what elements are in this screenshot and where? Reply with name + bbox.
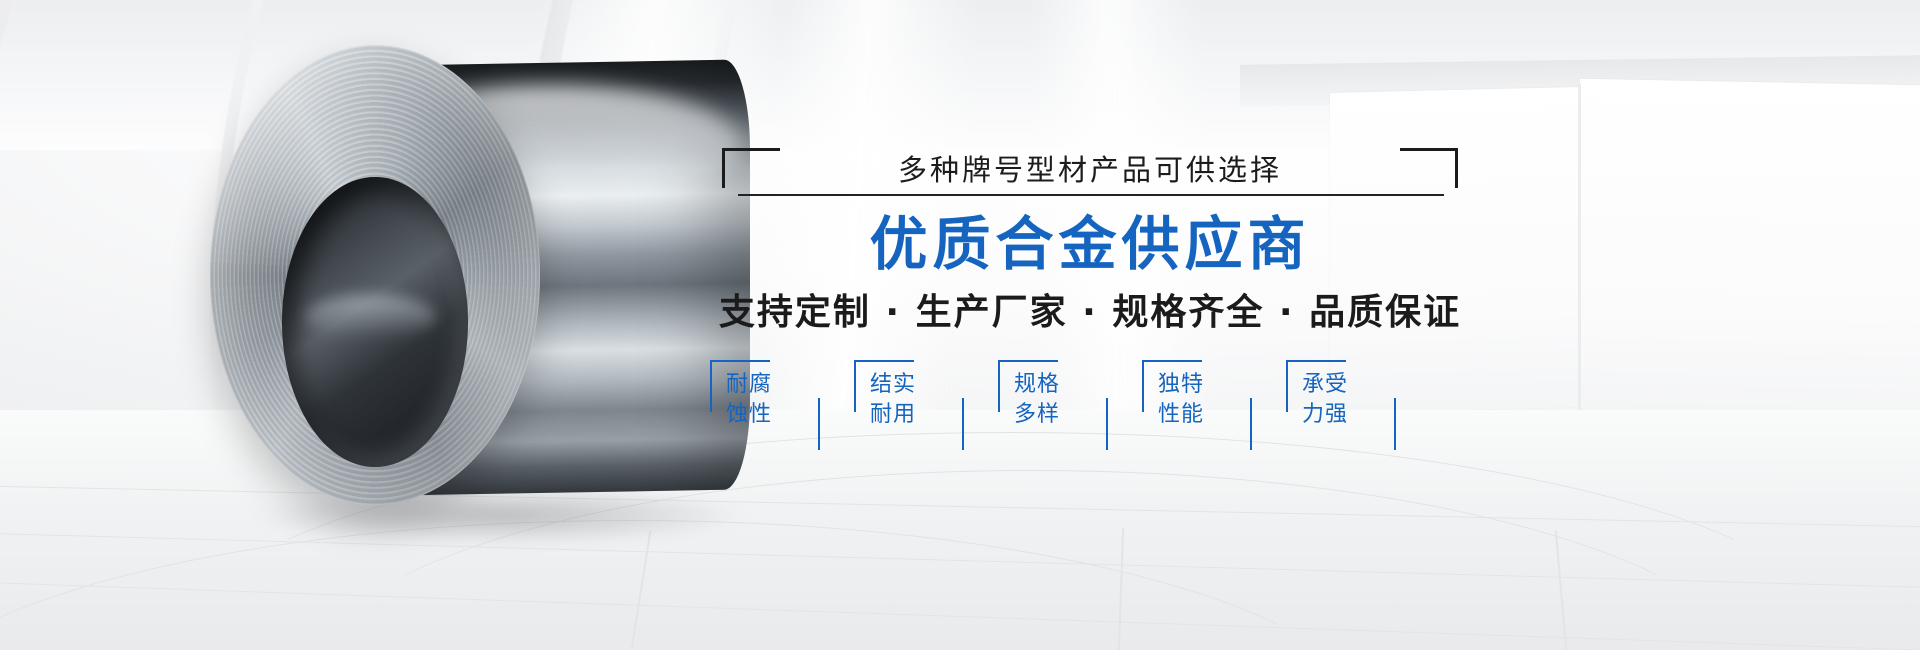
- badge-label-line2: 力强: [1302, 400, 1376, 430]
- badge-bracket-top: [1142, 360, 1202, 362]
- badge-label-line2: 性能: [1158, 400, 1232, 430]
- badge-label-line1: 耐腐: [726, 370, 800, 400]
- badge-label: 独特 性能: [1158, 370, 1232, 430]
- badge-label-line2: 耐用: [870, 400, 944, 430]
- badge-bracket-top: [854, 360, 914, 362]
- product-steel-coil-image: [210, 45, 670, 515]
- badge-divider-line: [1250, 398, 1252, 450]
- feature-badge-5: 承受 力强: [1286, 360, 1390, 452]
- feature-badge-2: 结实 耐用: [854, 360, 958, 452]
- banner-copy-block: 多种牌号型材产品可供选择 优质合金供应商 支持定制 · 生产厂家 · 规格齐全 …: [700, 128, 1520, 508]
- sub-headline: 支持定制 · 生产厂家 · 规格齐全 · 品质保证: [656, 290, 1524, 336]
- feature-badge-1: 耐腐 蚀性: [710, 360, 814, 452]
- main-headline: 优质合金供应商: [700, 210, 1480, 278]
- badge-label-line1: 独特: [1158, 370, 1232, 400]
- badge-bracket-top: [1286, 360, 1346, 362]
- badge-label-line1: 结实: [870, 370, 944, 400]
- badge-bracket-left: [1286, 360, 1288, 412]
- wall-panel-seam: [1578, 84, 1581, 414]
- tagline-framed: 多种牌号型材产品可供选择: [700, 128, 1480, 204]
- feature-badge-list: 耐腐 蚀性 结实 耐用 规格 多样: [710, 360, 1510, 452]
- badge-bracket-left: [1142, 360, 1144, 412]
- badge-divider-line: [818, 398, 820, 450]
- badge-divider-line: [1106, 398, 1108, 450]
- badge-label: 耐腐 蚀性: [726, 370, 800, 430]
- feature-badge-4: 独特 性能: [1142, 360, 1246, 452]
- coil-bore-highlight: [306, 295, 436, 339]
- hero-banner: 多种牌号型材产品可供选择 优质合金供应商 支持定制 · 生产厂家 · 规格齐全 …: [0, 0, 1920, 650]
- badge-bracket-top: [998, 360, 1058, 362]
- badge-label-line1: 承受: [1302, 370, 1376, 400]
- badge-label-line2: 蚀性: [726, 400, 800, 430]
- badge-bracket-top: [710, 360, 770, 362]
- wall-panel-right: [1580, 79, 1920, 418]
- tagline-text: 多种牌号型材产品可供选择: [700, 150, 1480, 190]
- badge-bracket-left: [854, 360, 856, 412]
- badge-label-line2: 多样: [1014, 400, 1088, 430]
- badge-divider-line: [962, 398, 964, 450]
- badge-divider-line: [1394, 398, 1396, 450]
- badge-label: 结实 耐用: [870, 370, 944, 430]
- badge-label-line1: 规格: [1014, 370, 1088, 400]
- badge-label: 规格 多样: [1014, 370, 1088, 430]
- badge-bracket-left: [998, 360, 1000, 412]
- badge-bracket-left: [710, 360, 712, 412]
- tagline-underline-rule: [738, 194, 1444, 196]
- feature-badge-3: 规格 多样: [998, 360, 1102, 452]
- badge-label: 承受 力强: [1302, 370, 1376, 430]
